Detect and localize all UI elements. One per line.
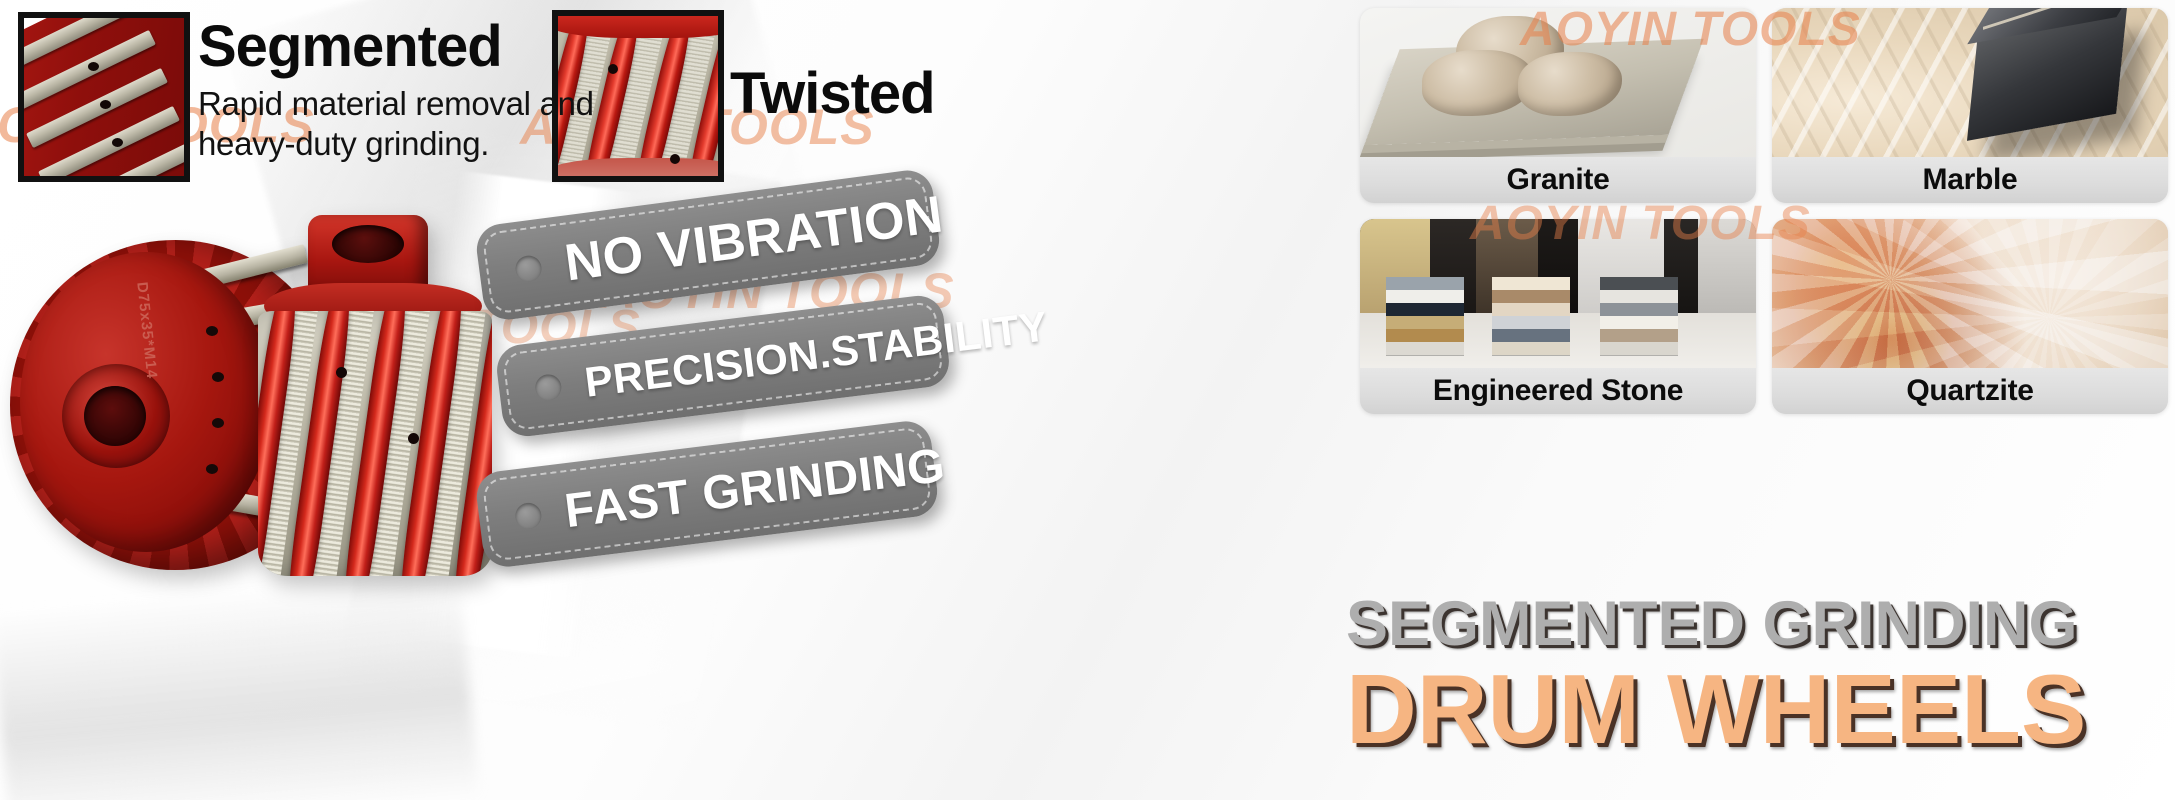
stone-sample-stack: [1492, 277, 1570, 355]
paper-shadow: [0, 570, 479, 800]
twisted-heading: Twisted: [730, 65, 935, 123]
stone-sample-stack: [1386, 277, 1464, 355]
mounting-hole: [212, 418, 224, 428]
material-card-quartzite: Quartzite: [1772, 219, 2168, 414]
segmented-heading: Segmented: [198, 18, 502, 76]
segmented-wheel-photo: [24, 18, 184, 176]
backdrop-panel: [1698, 219, 1756, 313]
material-caption-bar: Marble: [1772, 157, 2168, 203]
mounting-hole: [206, 326, 218, 336]
product-banner: AOYIN TOOLS AOYIN TOOLS AOYIN TOOLS AOYI…: [0, 0, 2175, 800]
segmented-wheel-thumbnail: [18, 12, 190, 182]
material-caption-bar: Quartzite: [1772, 368, 2168, 414]
mounting-hole: [100, 100, 111, 109]
tag-punch-hole-icon: [534, 373, 563, 402]
tag-punch-hole-icon: [514, 254, 543, 283]
headline-line-2: DRUM WHEELS: [1346, 660, 2086, 758]
mounting-hole: [206, 464, 218, 474]
material-caption-bar: Engineered Stone: [1360, 368, 1756, 414]
material-card-engineered-stone: Engineered Stone: [1360, 219, 1756, 414]
segmented-description: Rapid material removal and heavy-duty gr…: [198, 84, 628, 165]
mounting-hole: [336, 367, 347, 378]
headline-line-1: SEGMENTED GRINDING: [1346, 588, 2078, 660]
material-label: Marble: [1923, 163, 2018, 197]
mounting-hole: [212, 372, 224, 382]
quartzite-crystal-texture: [1772, 219, 2168, 371]
material-label: Quartzite: [1906, 374, 2033, 408]
mounting-hole: [408, 433, 419, 444]
stone-sample-stack: [1600, 277, 1678, 355]
material-label: Engineered Stone: [1433, 374, 1683, 408]
material-card-granite: Granite: [1360, 8, 1756, 203]
mounting-hole: [670, 154, 680, 164]
quartzite-photo: [1772, 219, 2168, 371]
wheel-bore: [84, 386, 146, 446]
drum-body: [258, 311, 492, 576]
material-grid: Granite Marble: [1360, 8, 2168, 408]
material-card-marble: Marble: [1772, 8, 2168, 203]
marble-photo: [1772, 8, 2168, 160]
drum-top-cap: [552, 10, 724, 38]
tag-punch-hole-icon: [514, 501, 543, 530]
drum-shaft-bore: [332, 225, 404, 263]
material-caption-bar: Granite: [1360, 157, 1756, 203]
twisted-drum-wheel-product-photo: [250, 215, 510, 585]
mounting-hole: [608, 64, 618, 74]
material-label: Granite: [1507, 163, 1610, 197]
engineered-stone-photo: [1360, 219, 1756, 371]
granite-photo: [1360, 8, 1756, 160]
mounting-hole: [112, 138, 123, 147]
mounting-hole: [88, 62, 99, 71]
